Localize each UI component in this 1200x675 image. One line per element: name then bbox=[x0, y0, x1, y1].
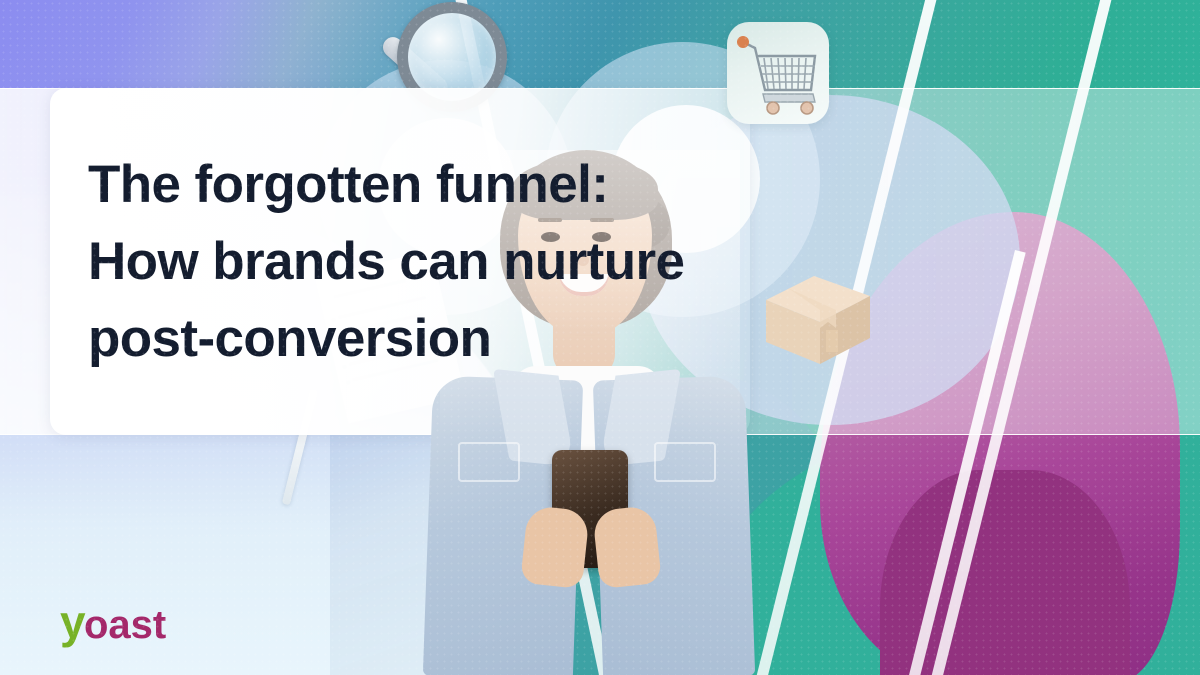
svg-text:y: y bbox=[60, 600, 86, 648]
yoast-logo[interactable]: y oast bbox=[60, 600, 178, 646]
shopping-cart-icon bbox=[727, 22, 829, 124]
page-title: The forgotten funnel: How brands can nur… bbox=[88, 147, 788, 378]
svg-text:oast: oast bbox=[84, 603, 166, 647]
social-card-canvas: The forgotten funnel: How brands can nur… bbox=[0, 0, 1200, 675]
